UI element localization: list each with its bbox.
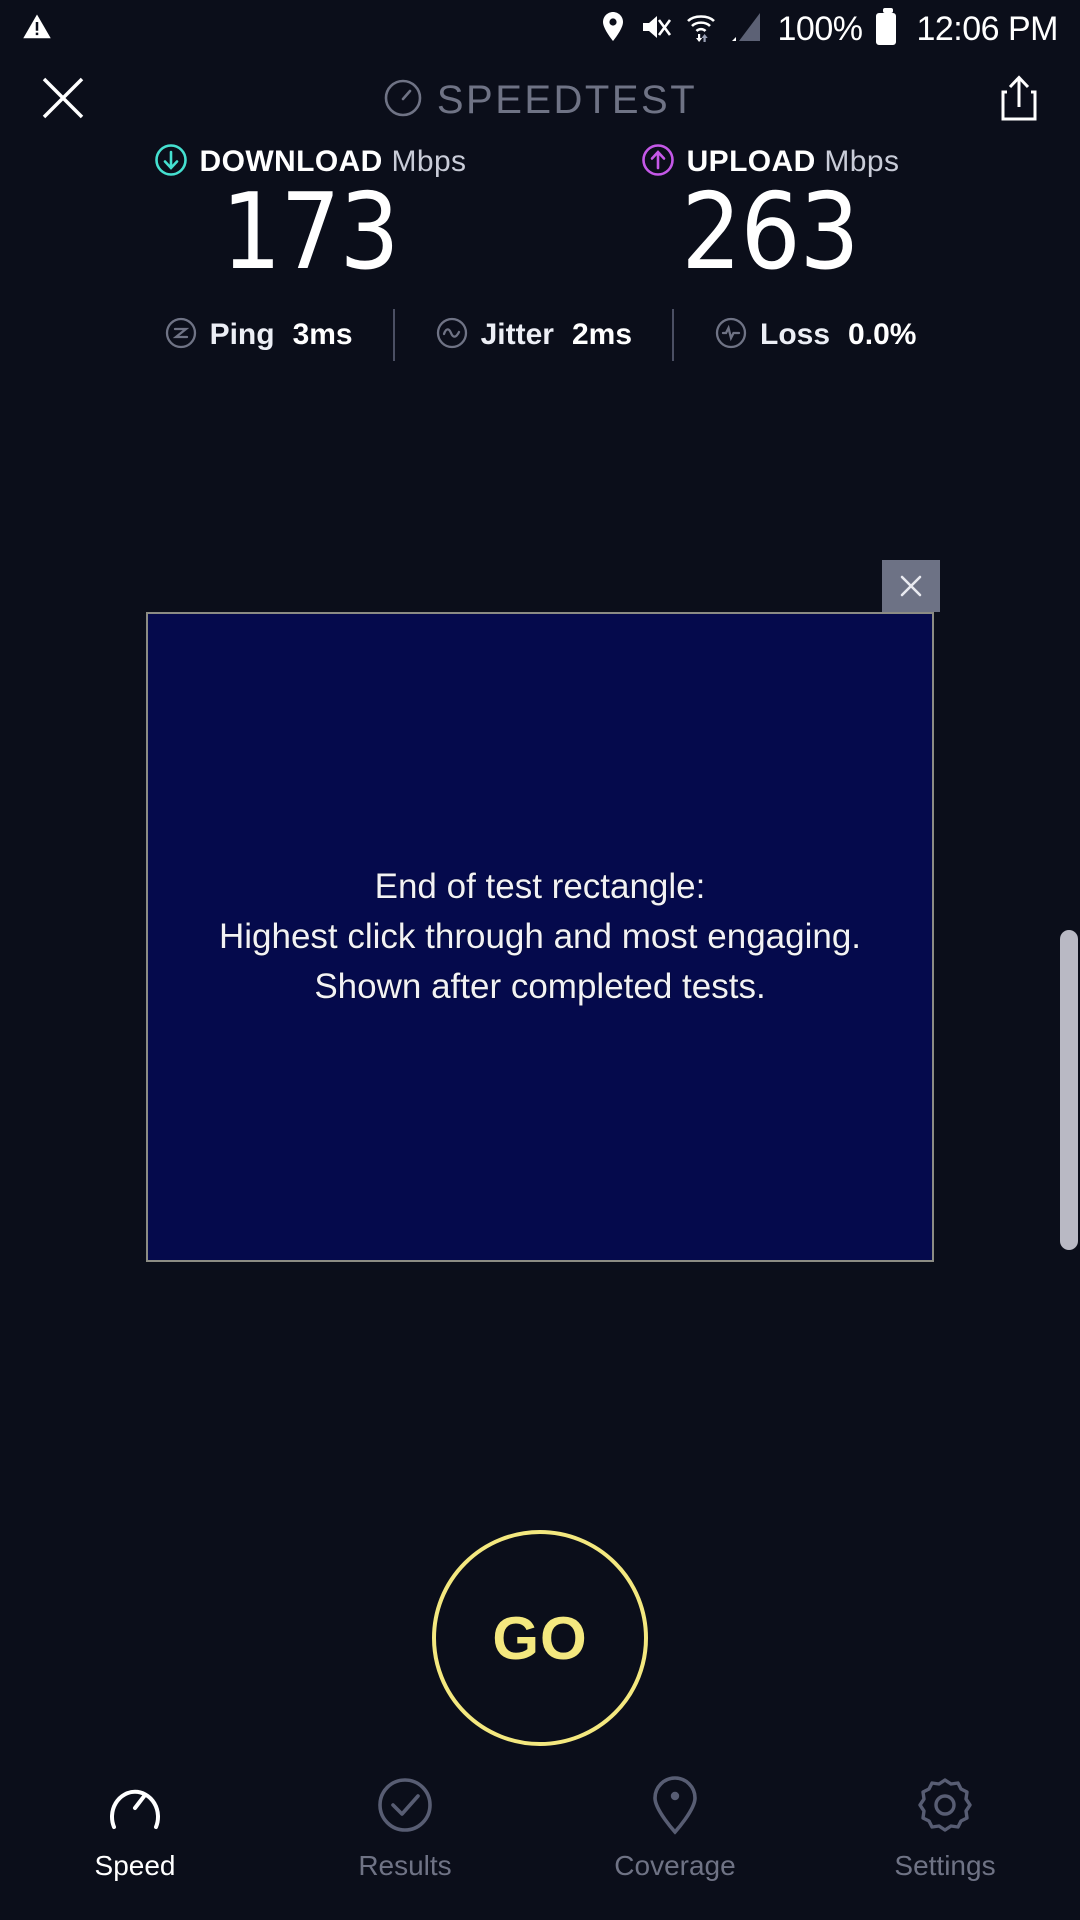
ad-close-button[interactable] (882, 560, 940, 612)
wifi-icon (686, 11, 716, 48)
warning-triangle-icon (22, 12, 52, 47)
brand-title-group: SPEEDTEST (0, 58, 1080, 143)
nav-item-speed[interactable]: Speed (0, 1774, 270, 1882)
speed-results-row: DOWNLOAD Mbps 173 UPLOAD Mbps 263 (0, 140, 1080, 285)
metric-loss: Loss 0.0% (714, 316, 916, 355)
gear-icon (916, 1774, 974, 1836)
status-bar-right: 100% 12:06 PM (600, 10, 1059, 49)
download-value: 173 (120, 180, 500, 285)
nav-label-settings: Settings (894, 1850, 995, 1882)
nav-item-coverage[interactable]: Coverage (540, 1774, 810, 1882)
nav-item-results[interactable]: Results (270, 1774, 540, 1882)
jitter-label: Jitter (481, 318, 554, 352)
results-panel: DOWNLOAD Mbps 173 UPLOAD Mbps 263 (0, 140, 1080, 361)
status-bar-clock: 12:06 PM (916, 10, 1058, 49)
upload-result: UPLOAD Mbps 263 (580, 140, 960, 285)
ad-line-1: End of test rectangle: (219, 862, 861, 912)
ping-value: 3ms (293, 318, 353, 352)
metric-divider (672, 309, 674, 361)
status-bar: 100% 12:06 PM (0, 0, 1080, 58)
nav-label-results: Results (358, 1850, 451, 1882)
go-button-label: GO (492, 1604, 587, 1673)
cell-signal-icon (730, 11, 764, 48)
ad-creative[interactable]: End of test rectangle: Highest click thr… (146, 612, 934, 1262)
speedometer-icon (383, 78, 423, 123)
speedtest-app-screen: 100% 12:06 PM SPEEDTEST (0, 0, 1080, 1920)
download-result: DOWNLOAD Mbps 173 (120, 140, 500, 285)
jitter-icon (435, 316, 469, 355)
check-circle-icon (376, 1774, 434, 1836)
ad-text: End of test rectangle: Highest click thr… (219, 862, 861, 1011)
metrics-row: Ping 3ms Jitter 2ms Loss 0.0% (0, 309, 1080, 361)
map-pin-icon (650, 1774, 700, 1836)
battery-percent-label: 100% (778, 10, 863, 49)
loss-value: 0.0% (848, 318, 916, 352)
jitter-value: 2ms (572, 318, 632, 352)
location-icon (600, 11, 626, 48)
upload-value: 263 (580, 180, 960, 285)
ad-line-3: Shown after completed tests. (219, 962, 861, 1012)
nav-item-settings[interactable]: Settings (810, 1774, 1080, 1882)
close-button[interactable] (40, 75, 86, 126)
battery-full-icon (876, 13, 896, 45)
metric-divider (393, 309, 395, 361)
go-button[interactable]: GO (432, 1530, 648, 1746)
arrow-up-circle-icon (641, 143, 675, 182)
loss-icon (714, 316, 748, 355)
metric-ping: Ping 3ms (164, 316, 353, 355)
arrow-down-circle-icon (154, 143, 188, 182)
loss-label: Loss (760, 318, 830, 352)
scrollbar-thumb[interactable] (1060, 930, 1078, 1250)
page-title: SPEEDTEST (437, 78, 697, 123)
share-button[interactable] (998, 74, 1040, 127)
nav-label-speed: Speed (95, 1850, 176, 1882)
ping-label: Ping (210, 318, 275, 352)
ad-line-2: Highest click through and most engaging. (219, 912, 861, 962)
bottom-navigation: Speed Results Coverage Settings (0, 1760, 1080, 1920)
mute-icon (640, 12, 672, 47)
ping-icon (164, 316, 198, 355)
nav-label-coverage: Coverage (614, 1850, 735, 1882)
speedometer-icon (104, 1774, 166, 1836)
status-bar-left (22, 12, 52, 47)
metric-jitter: Jitter 2ms (435, 316, 632, 355)
app-header: SPEEDTEST (0, 58, 1080, 143)
